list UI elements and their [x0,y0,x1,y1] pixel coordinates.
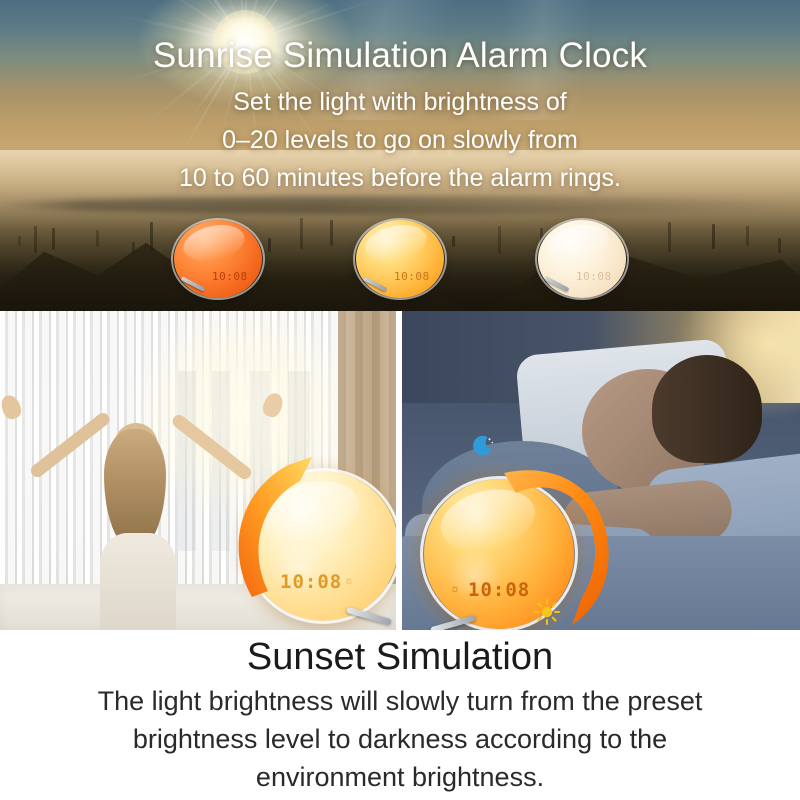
clock-time: 10:08 [394,270,430,283]
caption-line-2: brightness level to darkness according t… [0,726,800,753]
product-infographic: Sunrise Simulation Alarm Clock Set the l… [0,0,800,800]
banner-line-3: 10 to 60 minutes before the alarm rings. [0,166,800,191]
sun-glyph [534,599,560,625]
moon-glyph [470,433,496,459]
banner-line-2: 0–20 levels to go on slowly from [0,128,800,153]
moon-icon [470,433,496,459]
sunset-arc-icon [486,459,636,624]
brightness-progression: 10:08 10:08 10:08 [0,215,800,310]
caption-line-3: environment brightness. [0,764,800,791]
arc-shape [486,459,636,630]
sunrise-banner: Sunrise Simulation Alarm Clock Set the l… [0,0,800,311]
hair [652,355,762,463]
banner-line-1: Set the light with brightness of [0,90,800,115]
clock-time: 10:08 [212,270,248,283]
caption-title: Sunset Simulation [0,638,800,676]
progression-stage-1: 10:08 [174,220,266,302]
sun-icon [534,599,560,625]
banner-title: Sunrise Simulation Alarm Clock [0,38,800,73]
torso [100,533,176,630]
sunrise-arc-icon [226,451,376,616]
sunset-sleep-photo: 10:08 ☼ [402,311,800,630]
caption-line-1: The light brightness will slowly turn fr… [0,688,800,715]
photo-row: 10:08 ☼ [0,311,800,630]
progression-stage-2: 10:08 [356,220,448,302]
arc-shape [226,451,376,621]
device-mode-icon: ☼ [450,583,460,595]
woman-stretching [78,415,208,630]
clock-time: 10:08 [576,270,612,283]
sunset-caption-block: Sunset Simulation The light brightness w… [0,630,800,800]
progression-stage-3: 10:08 [538,220,630,302]
sunrise-wake-up-photo: 10:08 ☼ [0,311,396,630]
hair [104,429,166,549]
